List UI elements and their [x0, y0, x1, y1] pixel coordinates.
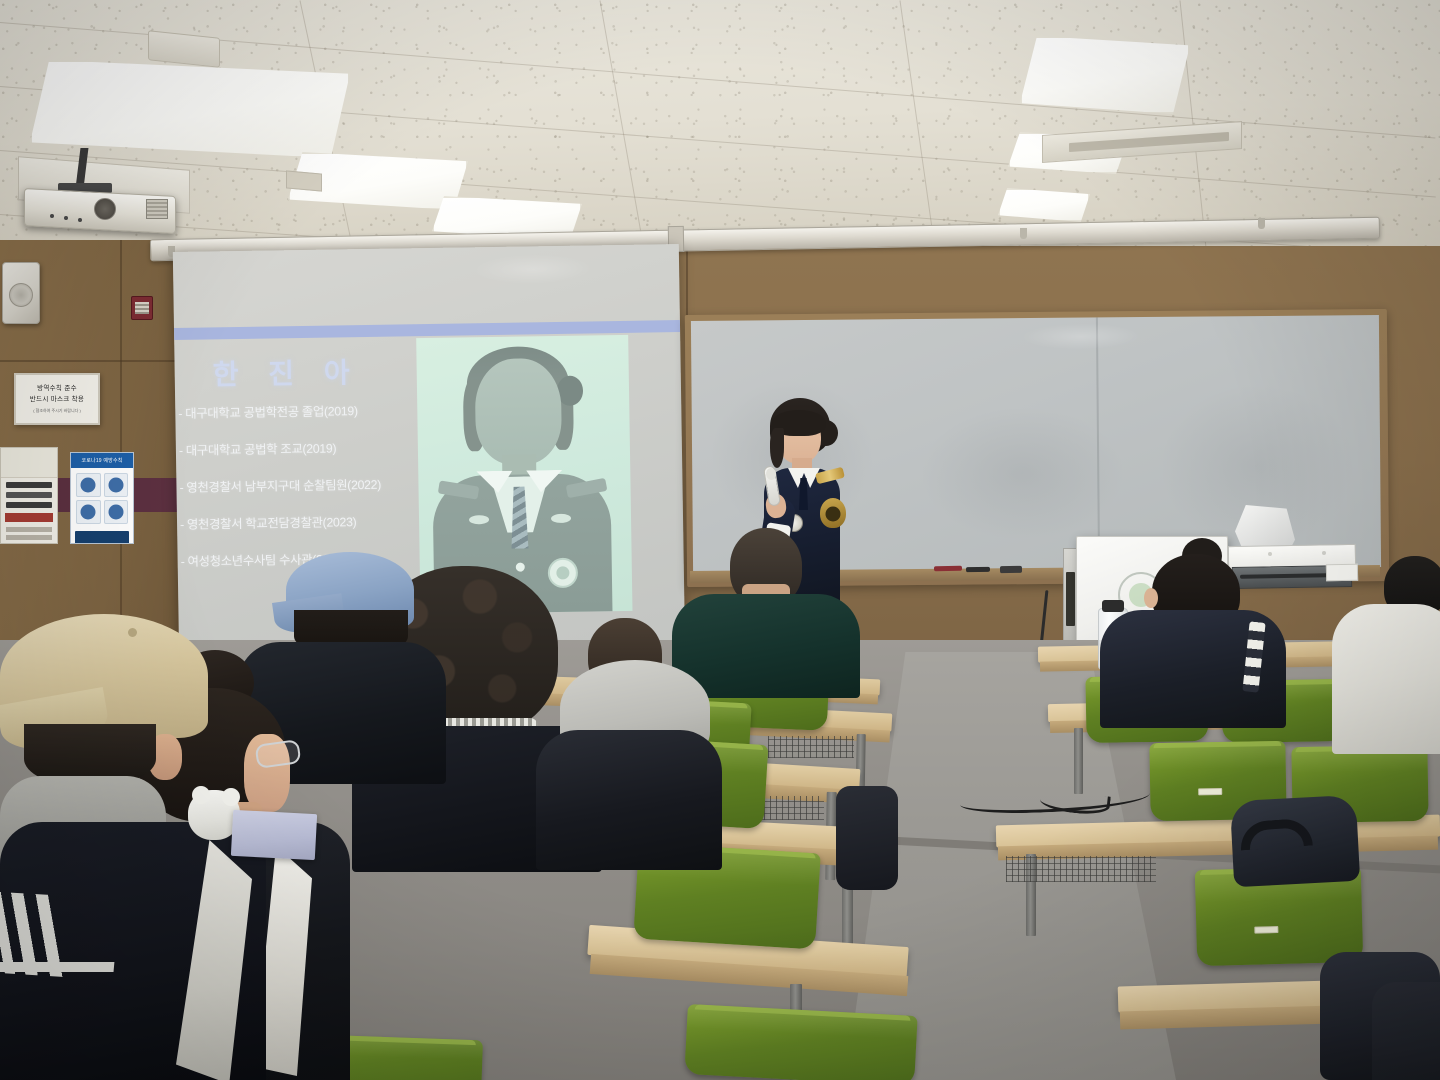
- desk-leg: [1074, 728, 1083, 794]
- projector-vent: [146, 199, 168, 219]
- whiteboard-marker: [966, 567, 990, 572]
- lecture-hall-photo: 방역수칙 준수 반드시 마스크 착용 ( 협조하여 주시기 바랍니다 ) 코로나…: [0, 0, 1440, 1080]
- notice-line-1: 방역수칙 준수: [37, 384, 77, 395]
- slide-bullet: - 대구대학교 공법학전공 졸업(2019): [178, 400, 418, 422]
- slide-bullet: - 영천경찰서 학교전담경찰관(2023): [180, 511, 420, 533]
- presenter-shoulder-patch: [820, 498, 846, 528]
- slide-bullet: - 대구대학교 공법학 조교(2019): [179, 437, 419, 459]
- ceiling-slot: [286, 170, 322, 191]
- poster-header: 코로나19 예방수칙: [71, 453, 133, 468]
- rail-hook: [1258, 218, 1265, 229]
- projector-lens: [94, 198, 116, 220]
- student-torso: [1332, 604, 1440, 754]
- fire-alarm-box: [131, 296, 153, 320]
- plush-keychain-ear: [222, 788, 240, 806]
- student-ear: [1144, 588, 1158, 608]
- slide-title: 한 진 아: [212, 351, 360, 393]
- whiteboard-eraser: [1000, 566, 1022, 573]
- student-tan-cap: [0, 600, 270, 1080]
- cap-button: [128, 628, 137, 637]
- presenter-side-hair: [770, 428, 784, 468]
- slide-bullet: - 영천경찰서 남부지구대 순찰팀원(2022): [179, 474, 419, 496]
- notice-line-2: 반드시 마스크 착용: [30, 395, 84, 406]
- ceiling-light-panel: [1020, 36, 1190, 114]
- chair-asset-label: [1254, 926, 1278, 934]
- whiteboard-marker: [934, 566, 962, 571]
- ceiling-light-panel: [30, 60, 350, 158]
- chair[interactable]: [684, 1004, 917, 1080]
- student-gray-hoodie: [520, 618, 710, 868]
- covid-prevention-poster: 코로나19 예방수칙: [70, 452, 134, 544]
- wall-loudspeaker: [2, 262, 40, 324]
- wall-poster-guide: [0, 447, 58, 544]
- presenter-necktie: [799, 478, 808, 510]
- desk-book-basket: [1006, 856, 1156, 882]
- student-puffer-jacket: [536, 730, 722, 870]
- student-front-right-torso: [1372, 982, 1440, 1080]
- mask-notice-sign: 방역수칙 준수 반드시 마스크 착용 ( 협조하여 주시기 바랍니다 ): [14, 373, 100, 425]
- podium-slot: [1066, 572, 1075, 626]
- portrait-face: [475, 358, 563, 465]
- student-cream-fleece: [1332, 556, 1440, 756]
- varsity-jacket-lettering: [0, 892, 120, 980]
- laptop-screen[interactable]: [231, 810, 317, 860]
- notice-subtext: ( 협조하여 주시기 바랍니다 ): [33, 408, 81, 414]
- rail-hook: [1020, 228, 1027, 239]
- desk-book-basket: [768, 736, 854, 758]
- chair-asset-label: [1198, 788, 1222, 795]
- plush-keychain-ear: [192, 786, 210, 804]
- backpack: [836, 786, 898, 890]
- student-right-bun: [1100, 538, 1290, 724]
